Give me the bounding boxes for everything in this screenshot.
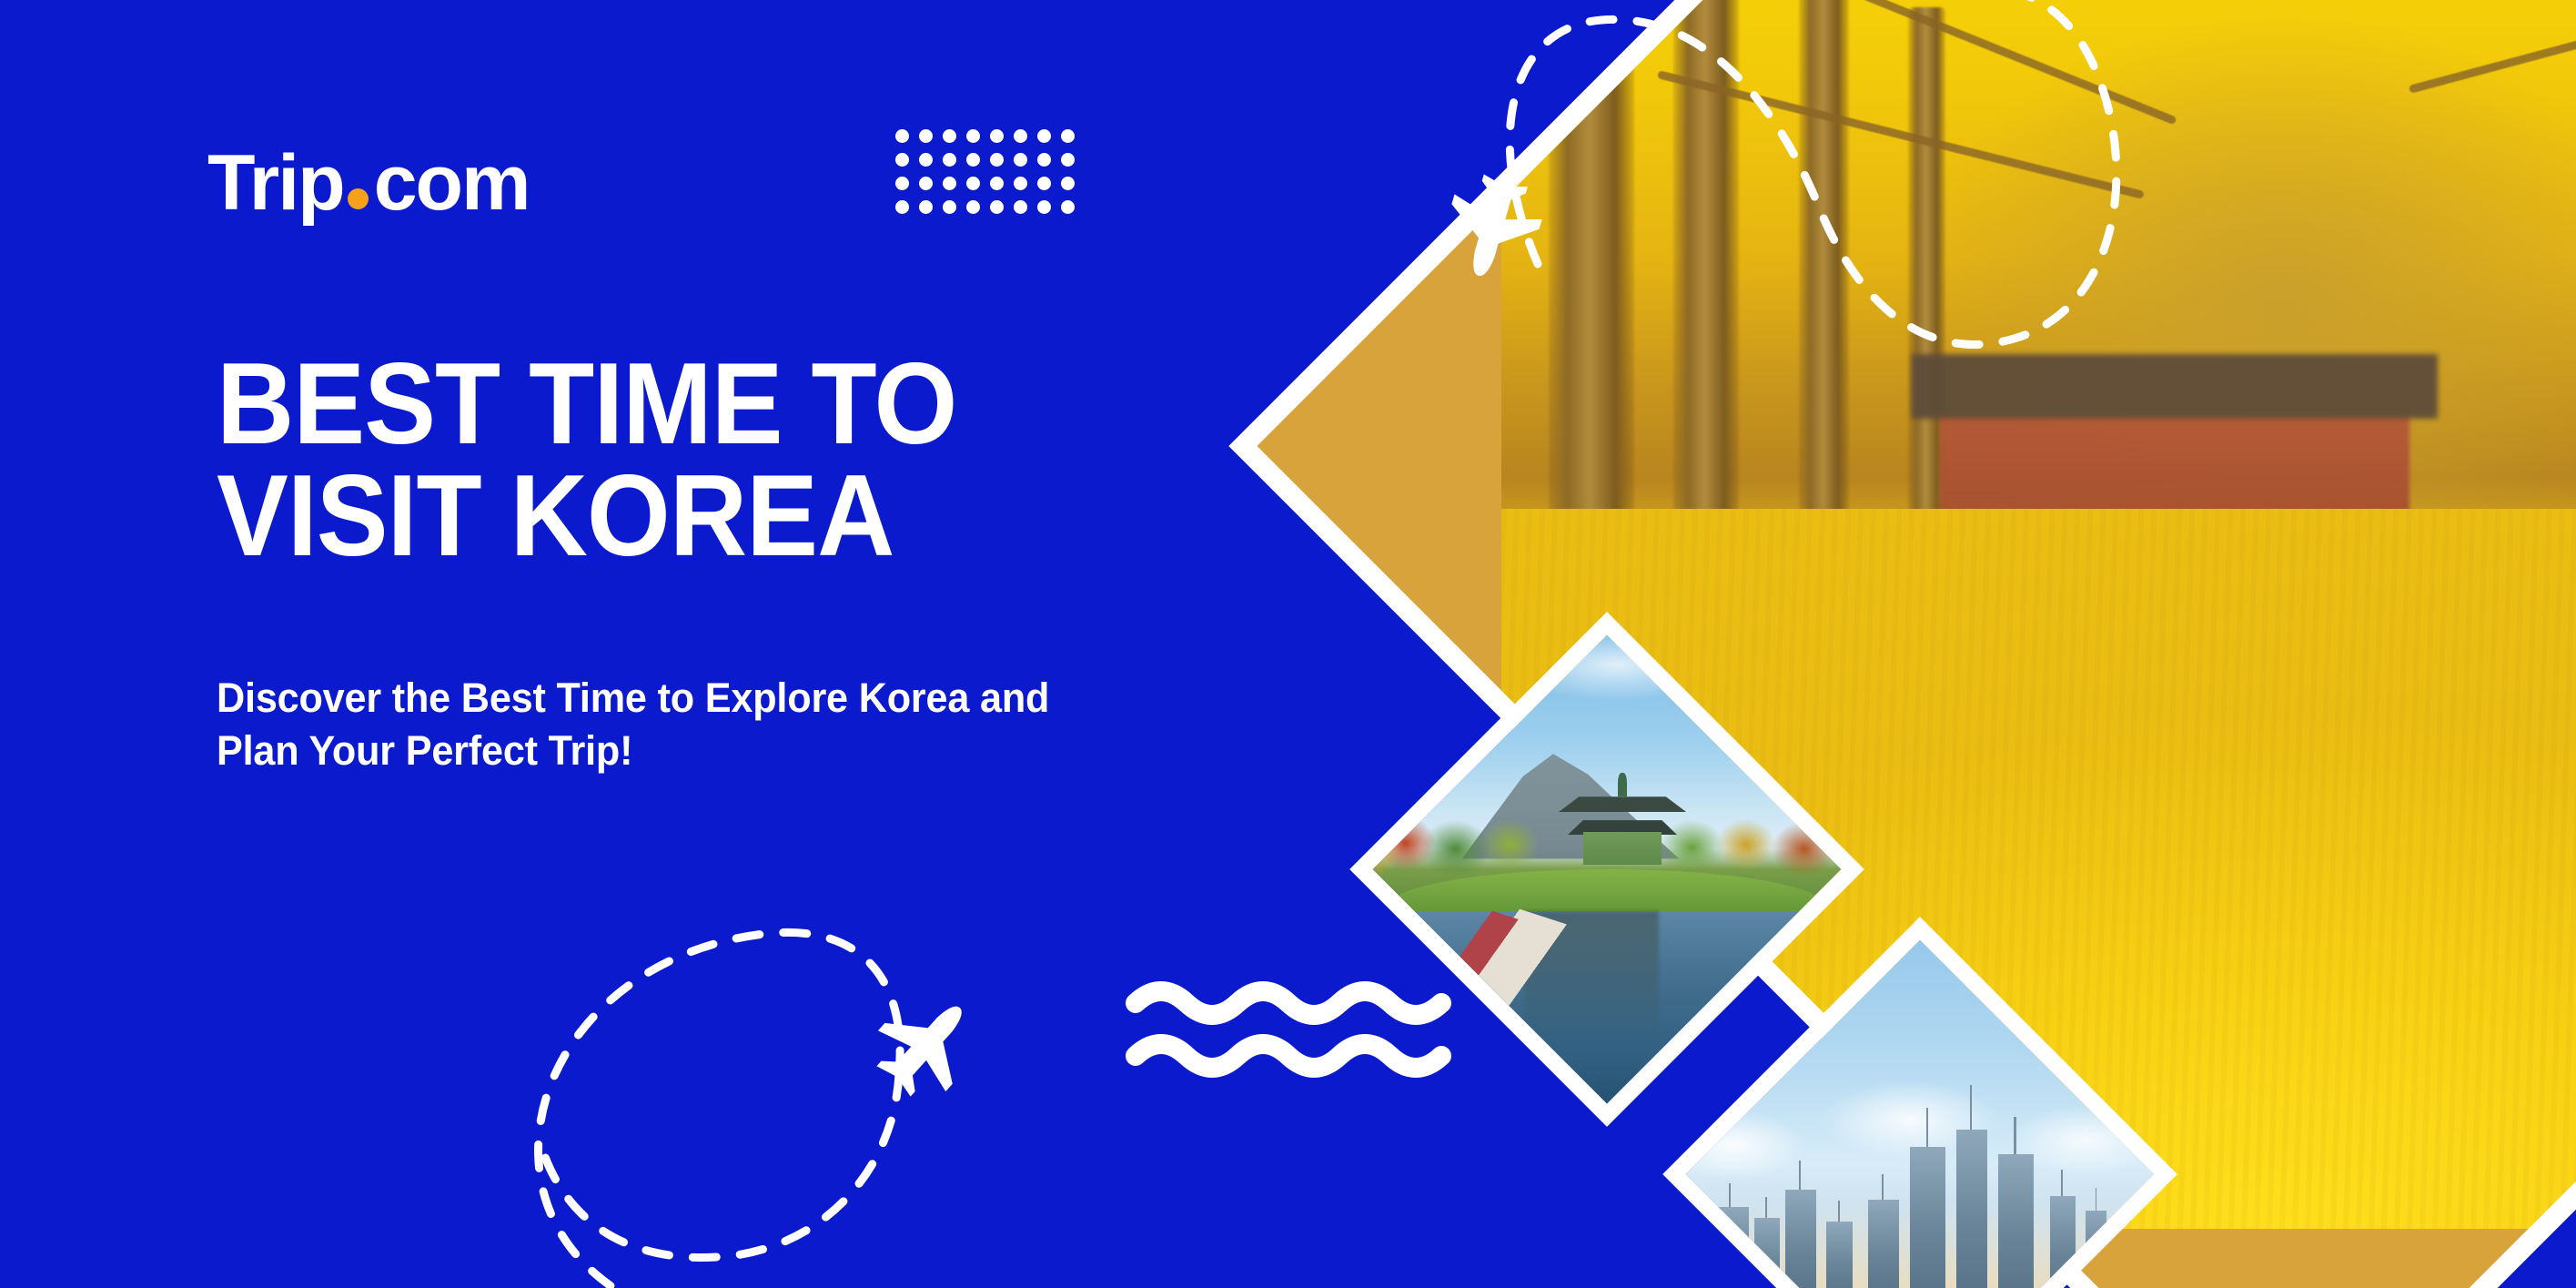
grid-dot bbox=[1037, 153, 1051, 167]
trip-com-logo[interactable]: Tripcom bbox=[207, 144, 530, 222]
page-subtitle: Discover the Best Time to Explore Korea … bbox=[217, 672, 1440, 776]
grid-dot bbox=[966, 200, 980, 214]
grid-dot bbox=[895, 200, 909, 214]
logo-text-com: com bbox=[374, 144, 530, 222]
promo-banner: Tripcom BEST TIME TO VISIT KOREA Discove… bbox=[0, 0, 2576, 1288]
grid-dot bbox=[919, 200, 933, 214]
grid-dot bbox=[1014, 177, 1027, 190]
grid-dot bbox=[1061, 177, 1075, 190]
grid-dot bbox=[1061, 200, 1075, 214]
grid-dot bbox=[966, 153, 980, 167]
grid-dot bbox=[943, 177, 956, 190]
grid-dot bbox=[990, 177, 1004, 190]
page-title: BEST TIME TO VISIT KOREA bbox=[217, 348, 956, 572]
grid-dot bbox=[943, 200, 956, 214]
grid-dot bbox=[990, 153, 1004, 167]
grid-dot bbox=[1014, 153, 1027, 167]
hyangwonjeong-pavilion bbox=[1565, 771, 1679, 880]
grid-dot bbox=[895, 153, 909, 167]
grid-dot bbox=[895, 177, 909, 190]
grid-dot bbox=[966, 177, 980, 190]
grid-dot bbox=[943, 153, 956, 167]
grid-dot bbox=[1037, 177, 1051, 190]
grid-dot bbox=[1014, 200, 1027, 214]
grid-dot bbox=[1037, 200, 1051, 214]
grid-dot bbox=[919, 177, 933, 190]
grid-dot bbox=[919, 129, 933, 143]
dot-grid-decoration bbox=[895, 129, 1085, 224]
logo-text-trip: Trip bbox=[207, 144, 344, 222]
grid-dot bbox=[990, 129, 1004, 143]
grid-dot bbox=[919, 153, 933, 167]
grid-dot bbox=[990, 200, 1004, 214]
grid-dot bbox=[1037, 129, 1051, 143]
grid-dot bbox=[1061, 153, 1075, 167]
grid-dot bbox=[1061, 129, 1075, 143]
grid-dot bbox=[895, 129, 909, 143]
grid-dot bbox=[966, 129, 980, 143]
grid-dot bbox=[943, 129, 956, 143]
grid-dot bbox=[1014, 129, 1027, 143]
logo-orange-dot-icon bbox=[348, 188, 369, 209]
